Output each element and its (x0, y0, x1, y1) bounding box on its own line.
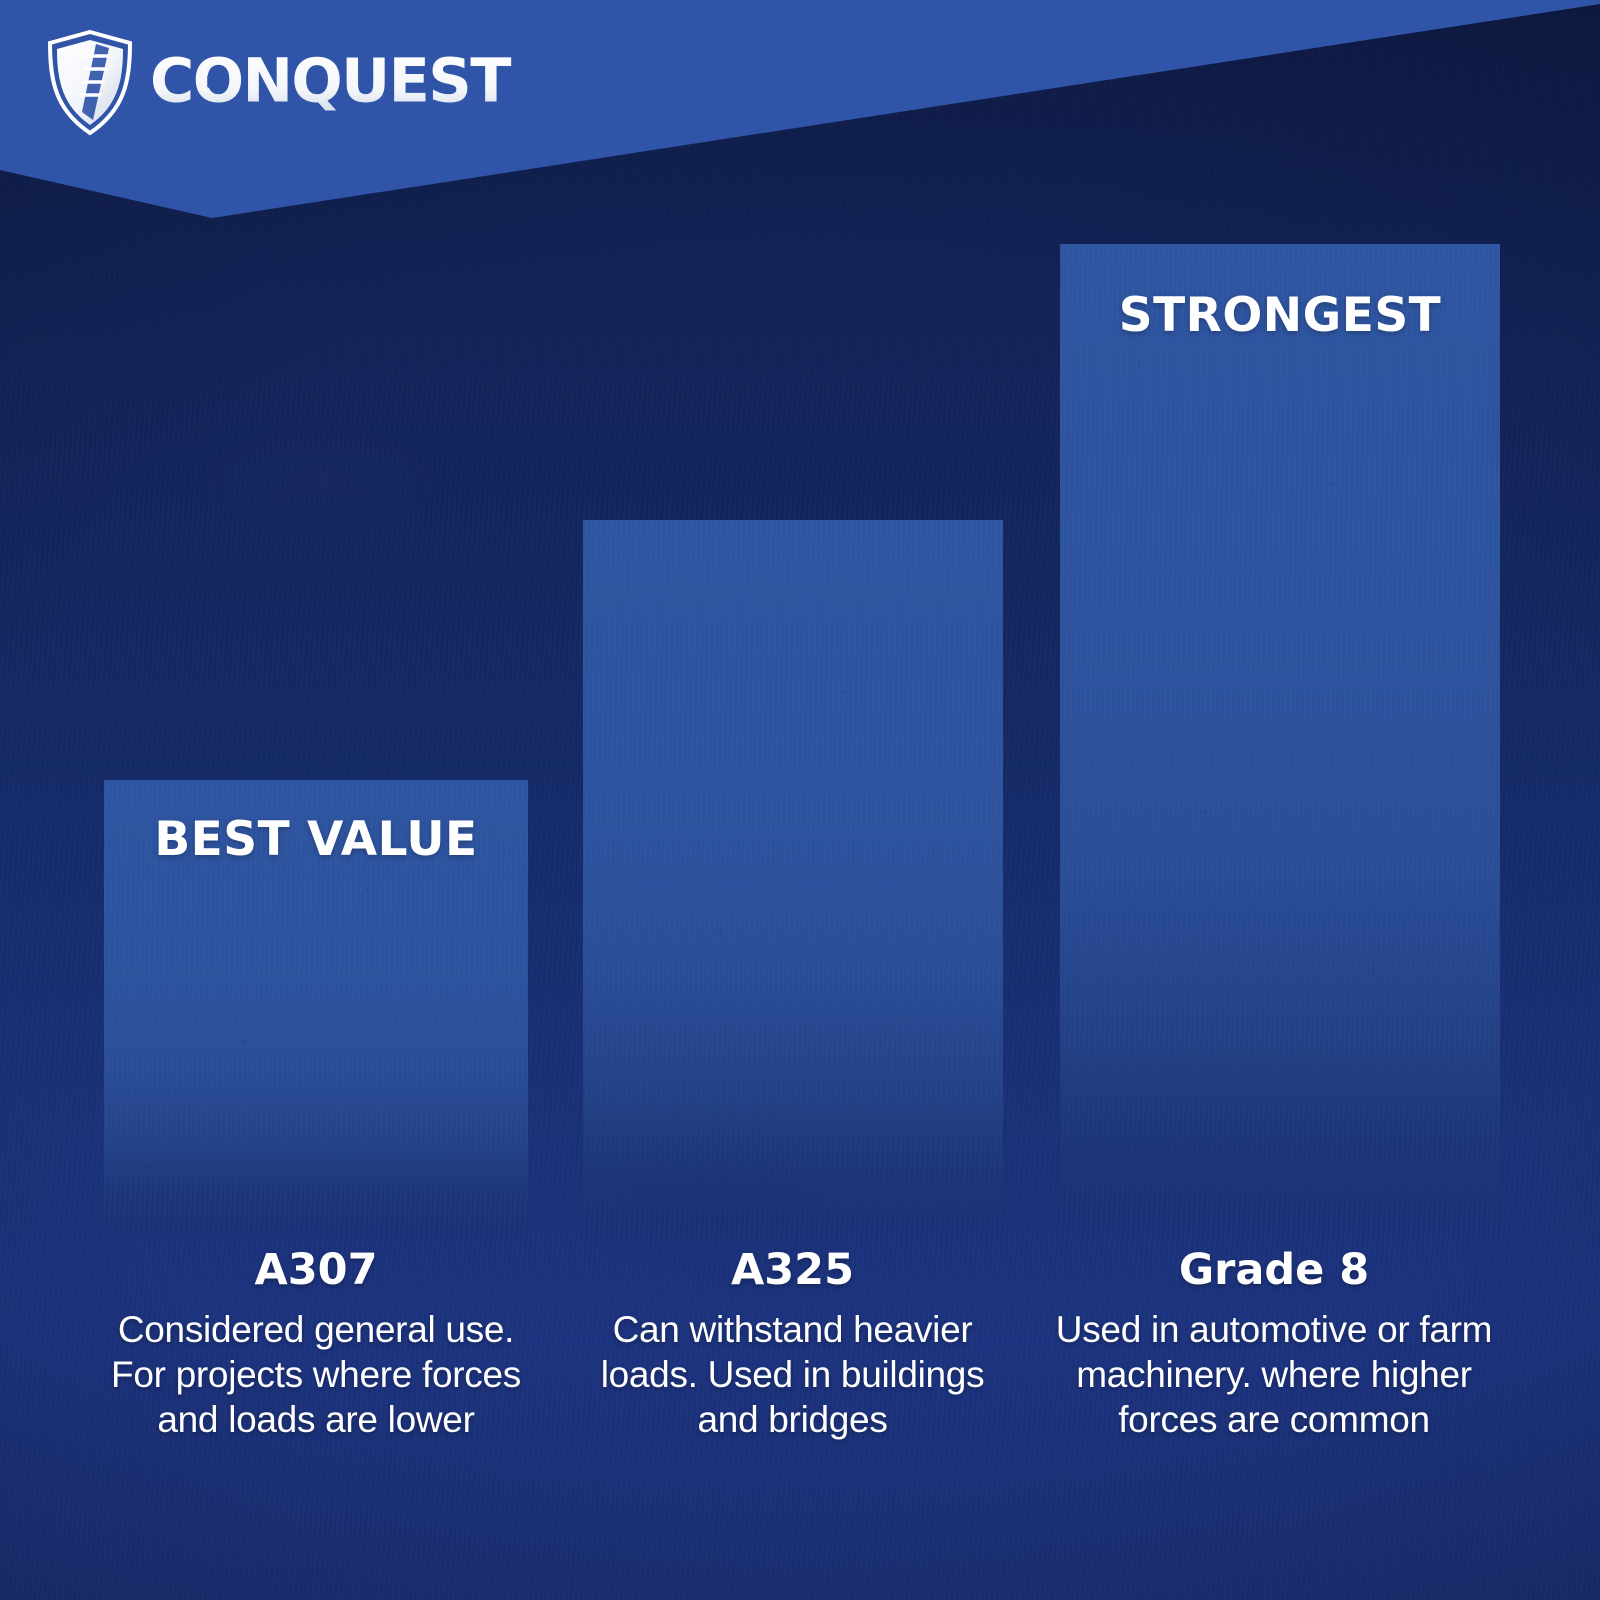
svg-text:CONQUEST: CONQUEST (150, 52, 511, 114)
badge-strongest: STRONGEST (1060, 288, 1500, 343)
brand-logo[interactable]: CONQUEST (46, 30, 563, 136)
caption-body: Considered general use. For projects whe… (96, 1307, 536, 1442)
shield-bolt-icon (46, 30, 134, 136)
caption-grade8: Grade 8 Used in automotive or farm machi… (1048, 1248, 1500, 1443)
bar-a325 (583, 520, 1003, 1240)
caption-title: Grade 8 (1048, 1248, 1500, 1293)
caption-a325: A325 Can withstand heavier loads. Used i… (580, 1248, 1005, 1443)
bar-fill (1060, 244, 1500, 1240)
caption-body: Used in automotive or farm machinery. wh… (1048, 1307, 1500, 1442)
infographic-poster: BEST VALUE STRONGEST (0, 0, 1600, 1600)
caption-title: A307 (96, 1248, 536, 1293)
bar-fill (583, 520, 1003, 1240)
badge-best-value: BEST VALUE (104, 812, 528, 867)
caption-title: A325 (580, 1248, 1005, 1293)
caption-body: Can withstand heavier loads. Used in bui… (580, 1307, 1005, 1442)
caption-a307: A307 Considered general use. For project… (96, 1248, 536, 1443)
brand-wordmark: CONQUEST (150, 52, 563, 114)
bar-grade8 (1060, 244, 1500, 1240)
